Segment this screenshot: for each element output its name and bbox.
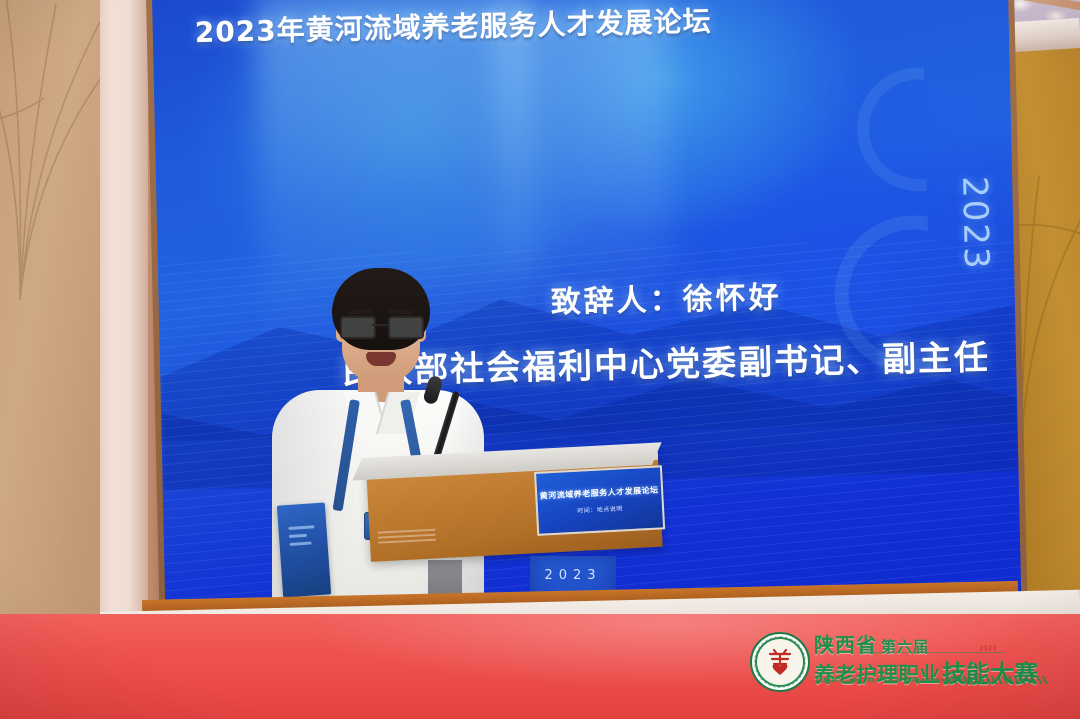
- event-logo: 陕西省第六届 养老护理职业技能大赛 ELDERLY CARE VOCATIONA…: [748, 628, 1058, 690]
- speaker-glasses: [340, 316, 422, 336]
- conference-stage-photo: 2023年黄河流域养老服务人才发展论坛 致辞人：徐怀好 民政部社会福利中心党委副…: [0, 0, 1080, 719]
- glasses-lens-left: [340, 316, 376, 339]
- glasses-lens-right: [388, 316, 424, 339]
- left-pillar: [100, 0, 152, 660]
- logo-year-mark: 2023: [980, 646, 997, 652]
- podium-display-title: 黄河流域养老服务人才发展论坛: [537, 484, 661, 501]
- screen-arc-decor-upper: [856, 66, 983, 193]
- glasses-bridge: [372, 324, 388, 326]
- speaker-mouth: [366, 352, 396, 366]
- logo-hatch-underline: [944, 676, 1048, 684]
- screen-year-vertical: 2023: [949, 176, 1000, 272]
- podium-banner-year: 2023: [530, 568, 616, 583]
- event-seal-emblem: [750, 632, 810, 692]
- podium-vent-slots: [378, 528, 443, 551]
- podium-display-subtitle: 时间：地点说明: [538, 501, 662, 516]
- seal-character-icon: [765, 647, 795, 677]
- screen-speaker-line: 致辞人：徐怀好: [550, 272, 782, 321]
- speaker-document-folder: [277, 502, 331, 597]
- podium-display-panel: 黄河流域养老服务人才发展论坛 时间：地点说明: [534, 465, 665, 536]
